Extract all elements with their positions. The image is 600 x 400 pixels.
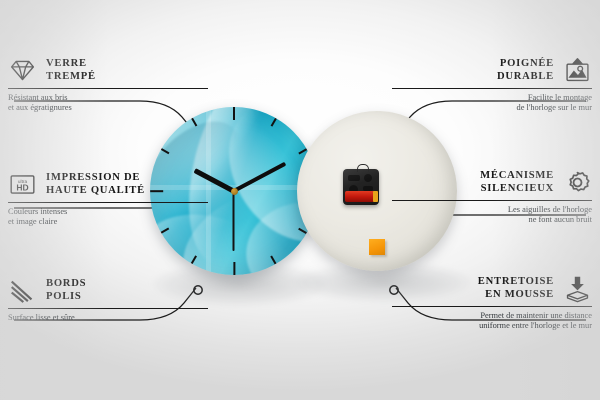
feature-description: Permet de maintenir une distance uniform… [392,311,592,332]
ultra-hd-icon: ultra HD [8,170,37,199]
feature-header: POIGNÉE DURABLE [392,56,592,85]
feature-description: Couleurs intenses et image claire [8,207,208,228]
feature-header: BORDS POLIS [8,276,208,305]
feature-description: Facilite le montage de l'horloge sur le … [392,93,592,114]
feature-title: VERRE TREMPÉ [46,58,96,83]
feature-divider [8,88,208,89]
feature-description: Surface lisse et sûre [8,313,208,323]
feature-divider [8,308,208,309]
feature-entretoise-en-mousse: ENTRETOISE EN MOUSSE Permet de maintenir… [392,274,592,332]
feature-divider [392,88,592,89]
hanger-loop-icon [357,164,369,172]
hanging-frame-icon [563,56,592,85]
feature-title: MÉCANISME SILENCIEUX [480,170,554,195]
feature-title: ENTRETOISE EN MOUSSE [478,276,554,301]
feature-header: ENTRETOISE EN MOUSSE [392,274,592,303]
feature-impression-haute-qualite: ultra HD IMPRESSION DE HAUTE QUALITÉ Cou… [8,170,208,228]
gear-icon [563,168,592,197]
clock-tick [233,107,235,120]
clock-center-cap [231,188,238,195]
feature-divider [392,306,592,307]
feature-header: VERRE TREMPÉ [8,56,208,85]
clock-tick [233,262,235,275]
diamond-icon [8,56,37,85]
feature-description: Les aiguilles de l'horloge ne font aucun… [392,205,592,226]
polished-edges-icon [8,276,37,305]
feature-poignee-durable: POIGNÉE DURABLE Facilite le montage de l… [392,56,592,114]
feature-title: POIGNÉE DURABLE [497,58,554,83]
foam-spacer-icon [563,274,592,303]
feature-header: MÉCANISME SILENCIEUX [392,168,592,197]
feature-bords-polis: BORDS POLIS Surface lisse et sûre [8,276,208,323]
feature-divider [392,200,592,201]
foam-spacer [369,239,385,255]
quartz-movement [343,169,379,205]
feature-title: BORDS POLIS [46,278,86,303]
svg-text:HD: HD [16,182,28,192]
feature-title: IMPRESSION DE HAUTE QUALITÉ [46,172,145,197]
feature-description: Résistant aux bris et aux égratignures [8,93,208,114]
infographic-canvas: VERRE TREMPÉ Résistant aux bris et aux é… [0,0,600,400]
feature-divider [8,202,208,203]
feature-header: ultra HD IMPRESSION DE HAUTE QUALITÉ [8,170,208,199]
feature-verre-trempe: VERRE TREMPÉ Résistant aux bris et aux é… [8,56,208,114]
feature-mecanisme-silencieux: MÉCANISME SILENCIEUX Les aiguilles de l'… [392,168,592,226]
battery-positive-terminal [373,191,378,202]
